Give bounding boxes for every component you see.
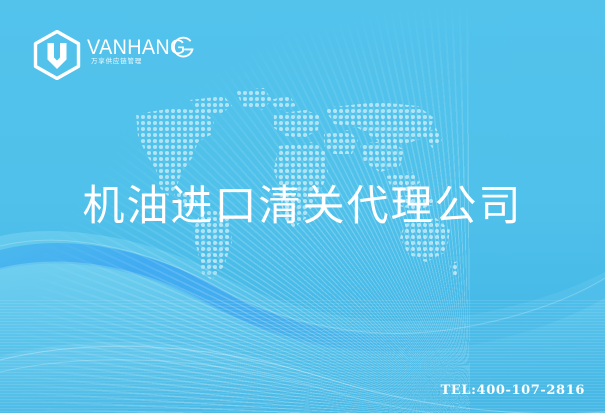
brand-wordmark: VANHANG 万享供应链管理 <box>87 33 191 77</box>
page-title: 机油进口清关代理公司 <box>0 182 605 229</box>
contact-phone: TEL:400-107-2816 <box>441 383 585 398</box>
brand-logo[interactable]: VANHANG 万享供应链管理 <box>33 29 191 81</box>
promo-banner: VANHANG 万享供应链管理 机油进口清关代理公司 TEL:400-107-2… <box>0 0 605 413</box>
vanhang-hexagon-u-icon <box>33 30 81 80</box>
brand-g-ring-icon <box>171 35 196 60</box>
brand-tagline-text: 万享供应链管理 <box>91 58 142 65</box>
